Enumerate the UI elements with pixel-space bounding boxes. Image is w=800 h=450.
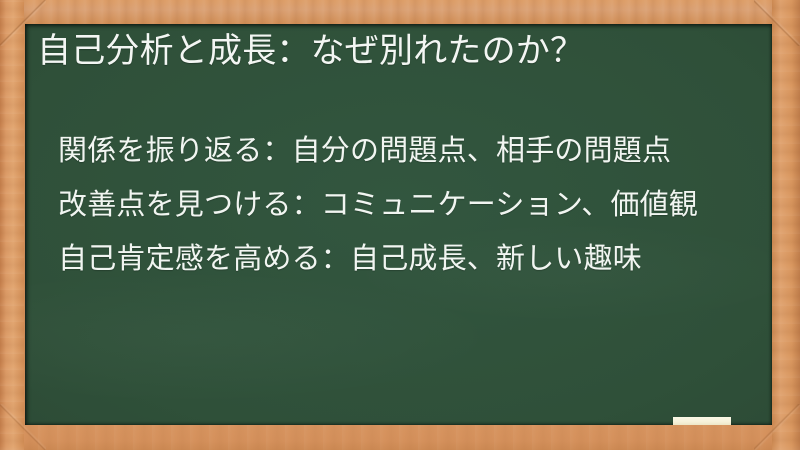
frame-rail-bottom: [0, 425, 800, 450]
slide-title: 自己分析と成長：なぜ別れたのか？: [37, 29, 584, 73]
frame-rail-top: [0, 0, 800, 24]
frame-stile-right: [772, 0, 800, 450]
chalk-stick-icon: [673, 417, 731, 425]
bullet-item: 関係を振り返る：自分の問題点、相手の問題点: [58, 124, 698, 178]
bullet-item: 自己肯定感を高める：自己成長、新しい趣味: [58, 232, 698, 286]
bullet-item: 改善点を見つける：コミュニケーション、価値観: [58, 178, 698, 232]
bullet-list: 関係を振り返る：自分の問題点、相手の問題点 改善点を見つける：コミュニケーション…: [58, 124, 698, 286]
chalkboard-content: 自己分析と成長：なぜ別れたのか？ 関係を振り返る：自分の問題点、相手の問題点 改…: [25, 24, 772, 425]
chalkboard-slide: 自己分析と成長：なぜ別れたのか？ 関係を振り返る：自分の問題点、相手の問題点 改…: [0, 0, 800, 450]
frame-stile-left: [0, 0, 24, 450]
chalkboard-surface: 自己分析と成長：なぜ別れたのか？ 関係を振り返る：自分の問題点、相手の問題点 改…: [25, 24, 772, 425]
